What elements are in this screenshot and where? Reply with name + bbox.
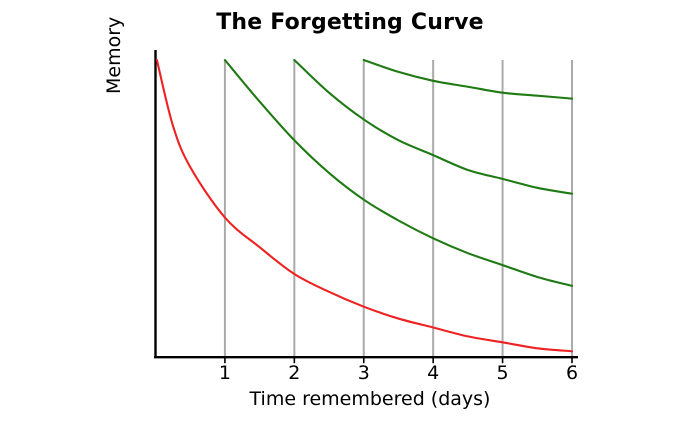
x-tick-label-5: 5: [483, 362, 523, 384]
x-tick-label-2: 2: [274, 362, 314, 384]
curve-3-day-3: [364, 60, 572, 99]
gridlines-group: [225, 60, 572, 357]
x-axis-label: Time remembered (days): [155, 388, 585, 410]
x-tick-label-3: 3: [344, 362, 384, 384]
x-tick-label-4: 4: [413, 362, 453, 384]
x-tick-label-1: 1: [205, 362, 245, 384]
forgetting-curve-figure: The Forgetting Curve Memory 123456 Time …: [0, 0, 700, 427]
x-tick-label-6: 6: [552, 362, 592, 384]
